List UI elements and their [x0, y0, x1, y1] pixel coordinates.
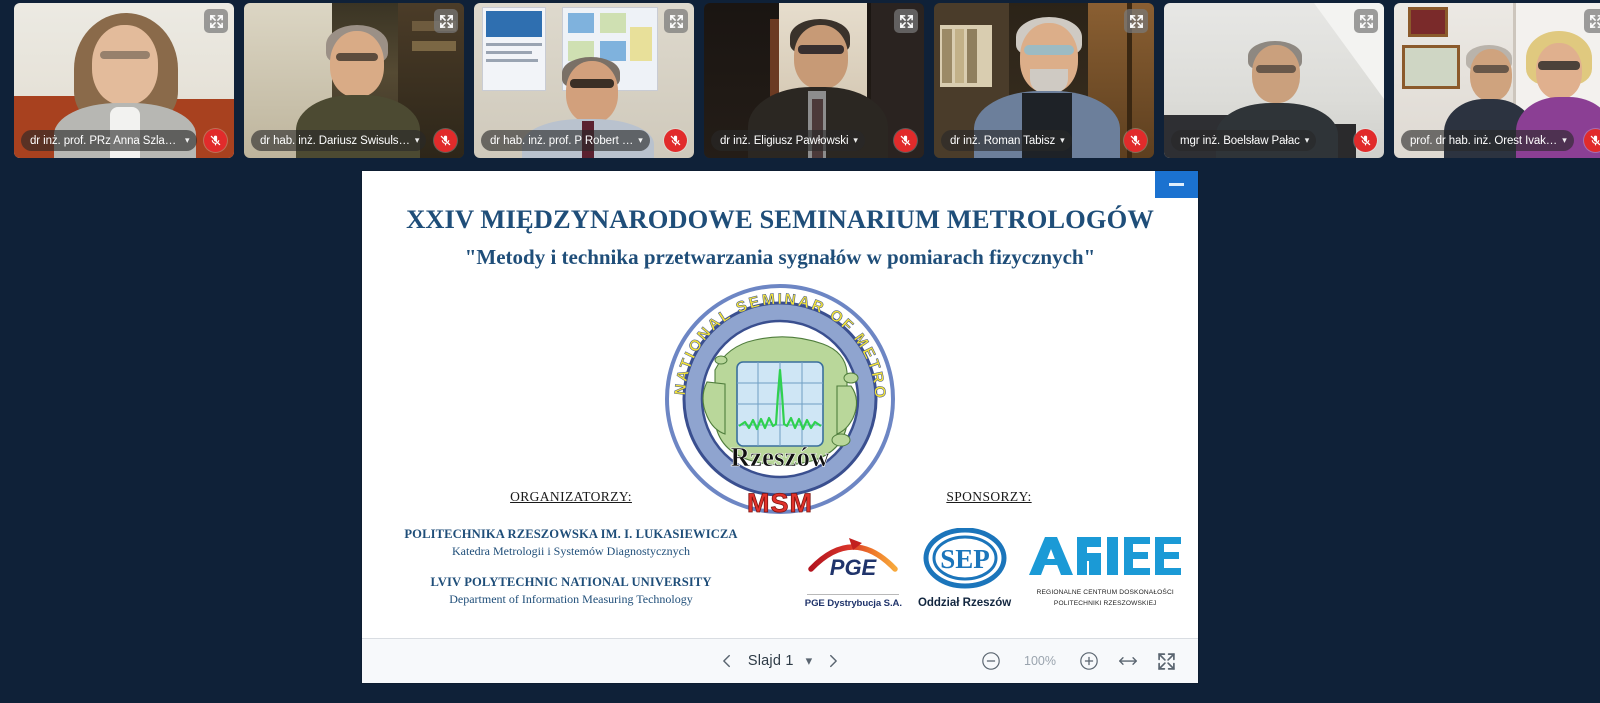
minimize-button[interactable]: [1155, 171, 1198, 198]
participant-name-badge[interactable]: dr inż. Roman Tabisz ▾: [941, 130, 1072, 151]
mic-muted-icon[interactable]: [664, 129, 687, 152]
fullscreen-button[interactable]: [1157, 652, 1176, 671]
video-tile[interactable]: dr inż. Eligiusz Pawłowski ▾: [704, 3, 924, 158]
pge-logo-icon: PGE: [805, 527, 901, 585]
participant-name-badge[interactable]: dr hab. inż. prof. P Robert … ▾: [481, 130, 650, 151]
participant-name-badge[interactable]: mgr inż. Boelsław Pałac ▾: [1171, 130, 1316, 151]
video-participant-strip: dr inż. prof. PRz Anna Szlac… ▾: [0, 0, 1600, 163]
slide-title: XXIV MIĘDZYNARODOWE SEMINARIUM METROLOGÓ…: [362, 204, 1198, 235]
mic-muted-icon[interactable]: [434, 129, 457, 152]
participant-name: dr hab. inż. Dariusz Świsuls…: [260, 135, 410, 147]
participant-name: mgr inż. Boelsław Pałac: [1180, 135, 1300, 147]
video-tile[interactable]: dr hab. inż. Dariusz Świsuls… ▾: [244, 3, 464, 158]
mic-muted-icon[interactable]: [894, 129, 917, 152]
mic-muted-icon[interactable]: [1584, 129, 1600, 152]
zoom-level-label: 100%: [1019, 654, 1061, 668]
fullscreen-icon: [1157, 652, 1176, 671]
mic-muted-icon[interactable]: [204, 129, 227, 152]
participant-name: dr inż. prof. PRz Anna Szlac…: [30, 135, 180, 147]
video-tile[interactable]: mgr inż. Boelsław Pałac ▾: [1164, 3, 1384, 158]
previous-slide-button[interactable]: [718, 652, 736, 670]
sponsor-arieet: REGIONALNE CENTRUM DOSKONAŁOŚCI POLITECH…: [1027, 531, 1183, 609]
presentation-panel: XXIV MIĘDZYNARODOWE SEMINARIUM METROLOGÓ…: [362, 171, 1198, 683]
sponsors-column: SPONSORZY:: [780, 489, 1198, 609]
video-tile[interactable]: dr hab. inż. prof. P Robert … ▾: [474, 3, 694, 158]
msm-emblem: Rzeszów INTERNATIONAL SEMINAR OF METROLO…: [655, 274, 905, 524]
expand-icon[interactable]: [664, 9, 688, 33]
fit-width-icon: [1117, 653, 1139, 669]
participant-name: dr hab. inż. prof. P Robert …: [490, 135, 633, 147]
zoom-in-button[interactable]: [1079, 651, 1099, 671]
participant-name: dr inż. Roman Tabisz: [950, 135, 1055, 147]
pge-caption: PGE Dystrybucja S.A.: [805, 598, 902, 609]
organizer-dept: Department of Information Measuring Tech…: [362, 592, 780, 607]
participant-name-badge[interactable]: prof. dr hab. inż. Orest Ivak… ▾: [1401, 130, 1574, 151]
slide-number-label[interactable]: Slajd 1: [748, 653, 794, 669]
participant-name-badge[interactable]: dr hab. inż. Dariusz Świsuls… ▾: [251, 130, 426, 151]
zoom-controls-group: 100%: [981, 651, 1176, 671]
presentation-toolbar: Slajd 1 ▾ 100%: [362, 638, 1198, 683]
next-slide-button[interactable]: [824, 652, 842, 670]
svg-text:PGE: PGE: [830, 555, 878, 580]
arieet-caption-line2: POLITECHNIKI RZESZOWSKIEJ: [1027, 599, 1183, 609]
organizers-heading: ORGANIZATORZY:: [362, 489, 780, 505]
arieet-caption-line1: REGIONALNE CENTRUM DOSKONAŁOŚCI: [1027, 588, 1183, 598]
chevron-right-icon: [824, 652, 842, 670]
video-tile[interactable]: dr inż. prof. PRz Anna Szlac… ▾: [14, 3, 234, 158]
expand-icon[interactable]: [204, 9, 228, 33]
participant-name: prof. dr hab. inż. Orest Ivak…: [1410, 135, 1557, 147]
slide-canvas[interactable]: XXIV MIĘDZYNARODOWE SEMINARIUM METROLOGÓ…: [362, 171, 1198, 638]
sponsor-sep: SEP Oddział Rzeszów: [918, 528, 1011, 609]
fit-width-button[interactable]: [1117, 653, 1139, 669]
mic-muted-icon[interactable]: [1124, 129, 1147, 152]
expand-icon[interactable]: [1354, 9, 1378, 33]
meeting-app: dr inż. prof. PRz Anna Szlac… ▾: [0, 0, 1600, 703]
participant-name-badge[interactable]: dr inż. Eligiusz Pawłowski ▾: [711, 130, 865, 151]
chevron-down-icon[interactable]: ▾: [1305, 135, 1310, 146]
zoom-out-button[interactable]: [981, 651, 1001, 671]
sponsor-logos: PGE PGE Dystrybucja S.A. SEP Oddzia: [780, 527, 1198, 609]
divider: [807, 594, 899, 595]
arieet-logo-icon: [1027, 531, 1183, 581]
chevron-down-icon[interactable]: ▾: [638, 135, 643, 146]
expand-icon[interactable]: [894, 9, 918, 33]
slide-bottom-content: ORGANIZATORZY: POLITECHNIKA RZESZOWSKA I…: [362, 489, 1198, 609]
emblem-center-text: Rzeszów: [731, 442, 830, 472]
organizer-name: LVIV POLYTECHNIC NATIONAL UNIVERSITY: [362, 575, 780, 590]
participant-name: dr inż. Eligiusz Pawłowski: [720, 135, 848, 147]
chevron-down-icon[interactable]: ▾: [185, 135, 190, 146]
video-tile[interactable]: dr inż. Roman Tabisz ▾: [934, 3, 1154, 158]
sponsors-heading: SPONSORZY:: [780, 489, 1198, 505]
slide-select-chevron-down-icon[interactable]: ▾: [806, 653, 813, 669]
chevron-down-icon[interactable]: ▾: [1060, 135, 1065, 146]
organizers-column: ORGANIZATORZY: POLITECHNIKA RZESZOWSKA I…: [362, 489, 780, 609]
participant-name-badge[interactable]: dr inż. prof. PRz Anna Szlac… ▾: [21, 130, 197, 151]
minus-circle-icon: [981, 651, 1001, 671]
chevron-down-icon[interactable]: ▾: [415, 135, 420, 146]
organizer-entry: POLITECHNIKA RZESZOWSKA IM. I. LUKASIEWI…: [362, 527, 780, 559]
mic-muted-icon[interactable]: [1354, 129, 1377, 152]
minimize-icon: [1169, 183, 1184, 186]
video-tile[interactable]: prof. dr hab. inż. Orest Ivak… ▾: [1394, 3, 1600, 158]
organizer-dept: Katedra Metrologii i Systemów Diagnostyc…: [362, 544, 780, 559]
organizer-name: POLITECHNIKA RZESZOWSKA IM. I. LUKASIEWI…: [362, 527, 780, 542]
sep-caption: Oddział Rzeszów: [918, 597, 1011, 609]
chevron-down-icon[interactable]: ▾: [1562, 135, 1567, 146]
sep-logo-icon: SEP: [923, 528, 1007, 590]
expand-icon[interactable]: [1584, 9, 1600, 33]
expand-icon[interactable]: [1124, 9, 1148, 33]
svg-text:SEP: SEP: [940, 544, 990, 574]
expand-icon[interactable]: [434, 9, 458, 33]
chevron-left-icon: [718, 652, 736, 670]
plus-circle-icon: [1079, 651, 1099, 671]
organizer-entry: LVIV POLYTECHNIC NATIONAL UNIVERSITY Dep…: [362, 575, 780, 607]
sponsor-pge: PGE PGE Dystrybucja S.A.: [805, 527, 902, 609]
slide-subtitle: "Metody i technika przetwarzania sygnałó…: [362, 245, 1198, 270]
chevron-down-icon[interactable]: ▾: [853, 135, 858, 146]
